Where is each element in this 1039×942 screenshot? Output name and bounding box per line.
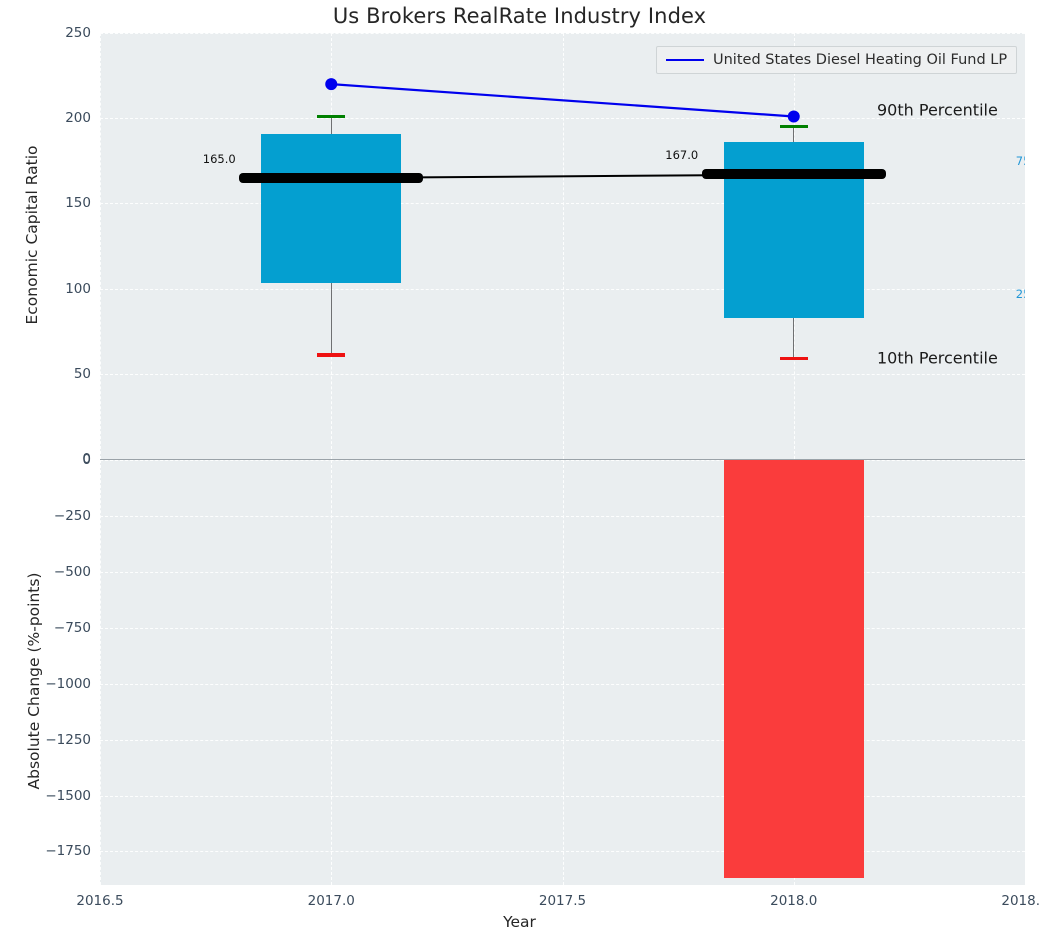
annotation-25th-percentile: 25th Percentile (1016, 287, 1025, 301)
y-axis-title-top: Economic Capital Ratio (23, 115, 41, 355)
cap-p90 (317, 115, 345, 118)
box-iqr (724, 142, 864, 318)
x-tick-label-1: 2017.0 (271, 893, 391, 909)
y-tick-label-bottom-6: −1500 (0, 788, 100, 804)
gridline-v-bottom-1 (331, 460, 332, 885)
y-tick-label-top-1: 50 (0, 366, 100, 382)
y-tick-label-bottom-4: −1000 (0, 676, 100, 692)
gridline-v-bottom-0 (100, 460, 101, 885)
change-bar (724, 460, 864, 878)
cap-p10 (780, 357, 808, 360)
plot-panel-bottom (100, 460, 1025, 885)
y-tick-label-bottom-3: −750 (0, 620, 100, 636)
cap-p90 (780, 125, 808, 128)
x-tick-label-2: 2017.5 (503, 893, 623, 909)
median-marker (239, 173, 423, 183)
gridline-v-bottom-2 (563, 460, 564, 885)
y-tick-label-top-5: 250 (0, 25, 100, 41)
x-tick-label-0: 2016.5 (40, 893, 160, 909)
annotation-75th-percentile: 75th Percentile (1016, 154, 1025, 168)
annotation-10th-percentile: 10th Percentile (877, 349, 998, 368)
y-tick-label-bottom-2: −500 (0, 564, 100, 580)
page-title: Us Brokers RealRate Industry Index (0, 4, 1039, 28)
y-tick-label-top-2: 100 (0, 281, 100, 297)
annotation-90th-percentile: 90th Percentile (877, 100, 998, 119)
y-axis-title-bottom: Absolute Change (%-points) (25, 521, 43, 841)
cap-p10 (317, 353, 345, 356)
y-tick-label-top-3: 150 (0, 195, 100, 211)
x-tick-label-4: 2018.5 (965, 893, 1039, 909)
y-tick-label-bottom-1: −250 (0, 508, 100, 524)
chart-legend[interactable]: United States Diesel Heating Oil Fund LP (656, 46, 1017, 74)
plot-panel-top: 165.0167.0 90th Percentile75th Percentil… (100, 33, 1025, 459)
x-axis-title: Year (0, 913, 1039, 931)
legend-line-icon (666, 59, 704, 61)
median-value-label: 167.0 (665, 148, 698, 162)
chart-figure: Us Brokers RealRate Industry Index 165.0… (0, 0, 1039, 942)
box-iqr (261, 134, 401, 284)
x-tick-label-3: 2018.0 (734, 893, 854, 909)
median-marker (702, 169, 886, 179)
gridline-v-top-2 (563, 33, 564, 459)
y-tick-label-bottom-7: −1750 (0, 843, 100, 859)
y-tick-label-bottom-0: 0 (0, 452, 100, 468)
median-value-label: 165.0 (203, 152, 236, 166)
legend-item-label: United States Diesel Heating Oil Fund LP (713, 52, 1007, 68)
gridline-v-top-0 (100, 33, 101, 459)
y-tick-label-top-4: 200 (0, 110, 100, 126)
y-tick-label-bottom-5: −1250 (0, 732, 100, 748)
